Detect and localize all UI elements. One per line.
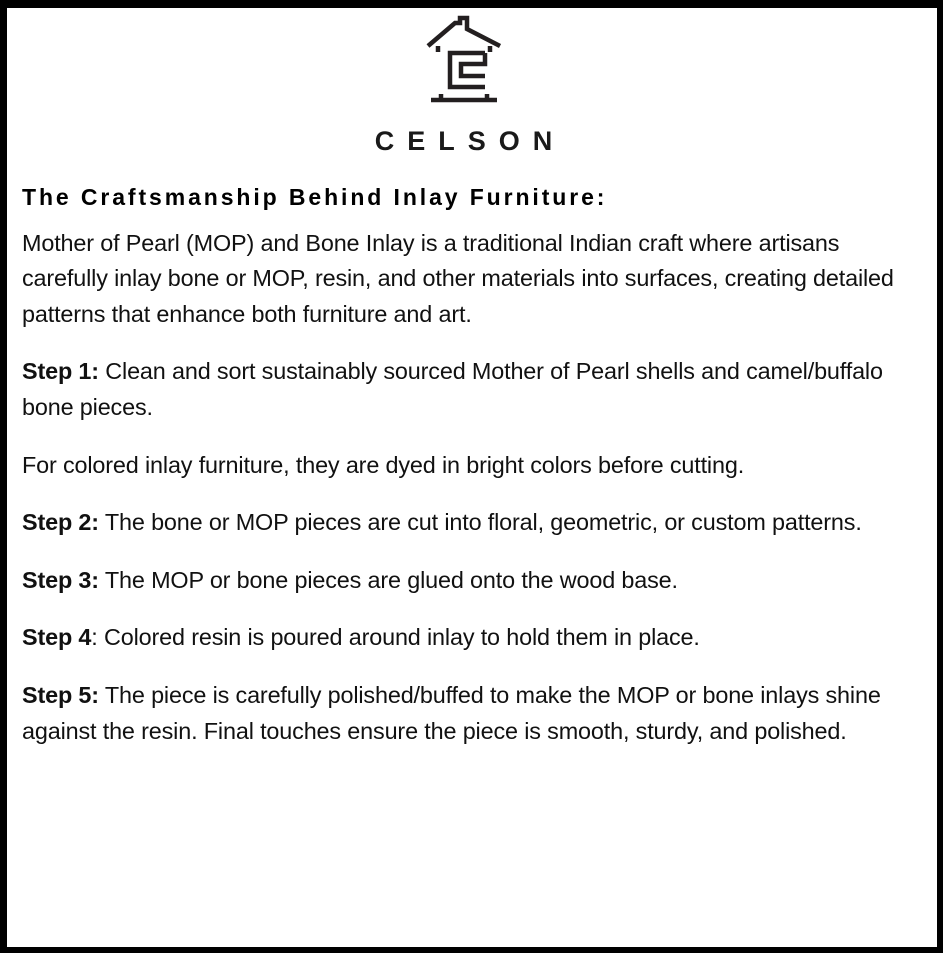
step-1-label: Step 1: xyxy=(22,358,99,384)
house-logo-icon xyxy=(424,14,504,112)
step-2-paragraph: Step 2: The bone or MOP pieces are cut i… xyxy=(22,505,911,541)
step-2-label: Step 2: xyxy=(22,509,99,535)
document-inner: CELSON The Craftsmanship Behind Inlay Fu… xyxy=(7,8,937,947)
step-4-text: : Colored resin is poured around inlay t… xyxy=(91,624,699,650)
step-3-text: The MOP or bone pieces are glued onto th… xyxy=(99,567,678,593)
body-content: Mother of Pearl (MOP) and Bone Inlay is … xyxy=(22,212,911,750)
step-2-text: The bone or MOP pieces are cut into flor… xyxy=(99,509,862,535)
brand-wordmark: CELSON xyxy=(16,128,911,155)
step-1-text: Clean and sort sustainably sourced Mothe… xyxy=(22,358,883,420)
step-4-label: Step 4 xyxy=(22,624,91,650)
brand-header: CELSON xyxy=(16,12,911,155)
step-3-paragraph: Step 3: The MOP or bone pieces are glued… xyxy=(22,563,911,599)
step-5-text: The piece is carefully polished/buffed t… xyxy=(22,682,881,744)
page-title: The Craftsmanship Behind Inlay Furniture… xyxy=(22,184,911,212)
intro-paragraph-text: Mother of Pearl (MOP) and Bone Inlay is … xyxy=(22,230,894,327)
document-card: CELSON The Craftsmanship Behind Inlay Fu… xyxy=(0,0,943,953)
step-1-paragraph: Step 1: Clean and sort sustainably sourc… xyxy=(22,354,911,425)
step-4-paragraph: Step 4: Colored resin is poured around i… xyxy=(22,620,911,656)
colored-inlay-paragraph: For colored inlay furniture, they are dy… xyxy=(22,448,911,484)
colored-inlay-text: For colored inlay furniture, they are dy… xyxy=(22,452,744,478)
step-5-label: Step 5: xyxy=(22,682,99,708)
step-3-label: Step 3: xyxy=(22,567,99,593)
step-5-paragraph: Step 5: The piece is carefully polished/… xyxy=(22,678,911,749)
intro-paragraph: Mother of Pearl (MOP) and Bone Inlay is … xyxy=(22,226,911,333)
